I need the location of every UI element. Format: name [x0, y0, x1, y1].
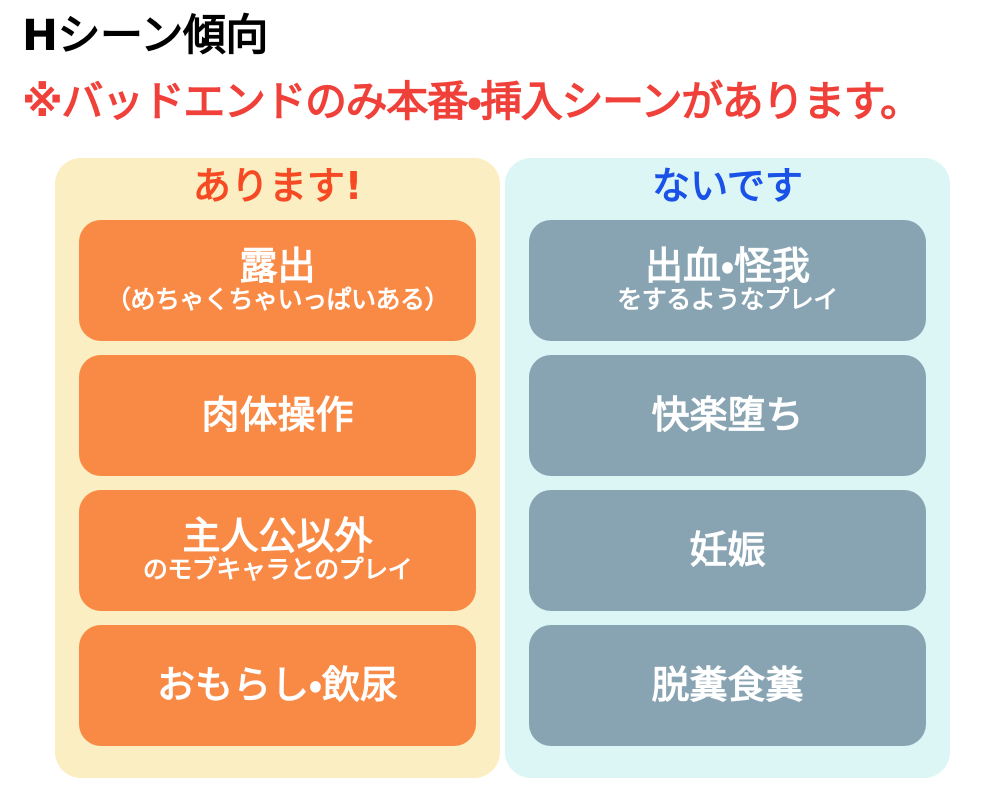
card-title: 主人公以外	[182, 515, 372, 558]
card-yes-1[interactable]: 露出 （めちゃくちゃいっぱいある）	[79, 220, 476, 341]
card-yes-2[interactable]: 肉体操作	[79, 355, 476, 476]
card-title: おもらし・飲尿	[157, 664, 398, 707]
page-subtitle-note: ※バッドエンドのみ本番・挿入シーンがあります。	[22, 80, 921, 124]
panel-heading-yes: あります!	[55, 166, 500, 208]
card-no-1[interactable]: 出血・怪我 をするようなプレイ	[529, 220, 926, 341]
card-title: 出血・怪我	[645, 245, 810, 288]
panel-heading-no: ないです	[505, 166, 950, 208]
card-subtitle: のモブキャラとのプレイ	[143, 556, 412, 584]
card-stack-no: 出血・怪我 をするようなプレイ 快楽堕ち 妊娠 脱糞食糞	[529, 220, 926, 746]
card-no-3[interactable]: 妊娠	[529, 490, 926, 611]
card-subtitle: をするようなプレイ	[617, 286, 838, 314]
card-title: 快楽堕ち	[651, 394, 803, 437]
panel-no: ないです 出血・怪我 をするようなプレイ 快楽堕ち 妊娠 脱糞食糞	[505, 158, 950, 778]
columns-container: あります! 露出 （めちゃくちゃいっぱいある） 肉体操作 主人公以外 のモブキャ…	[0, 152, 1000, 784]
card-no-2[interactable]: 快楽堕ち	[529, 355, 926, 476]
card-subtitle: （めちゃくちゃいっぱいある）	[106, 286, 449, 314]
card-stack-yes: 露出 （めちゃくちゃいっぱいある） 肉体操作 主人公以外 のモブキャラとのプレイ…	[79, 220, 476, 746]
card-title: 脱糞食糞	[651, 664, 803, 707]
panel-yes: あります! 露出 （めちゃくちゃいっぱいある） 肉体操作 主人公以外 のモブキャ…	[55, 158, 500, 778]
card-title: 露出	[239, 245, 315, 288]
card-yes-3[interactable]: 主人公以外 のモブキャラとのプレイ	[79, 490, 476, 611]
header: Hシーン傾向 ※バッドエンドのみ本番・挿入シーンがあります。	[0, 0, 1000, 152]
card-yes-4[interactable]: おもらし・飲尿	[79, 625, 476, 746]
page-title: Hシーン傾向	[22, 14, 268, 59]
card-title: 妊娠	[689, 529, 765, 572]
card-no-4[interactable]: 脱糞食糞	[529, 625, 926, 746]
card-title: 肉体操作	[201, 394, 353, 437]
infographic-root: Hシーン傾向 ※バッドエンドのみ本番・挿入シーンがあります。 あります! 露出 …	[0, 0, 1000, 800]
